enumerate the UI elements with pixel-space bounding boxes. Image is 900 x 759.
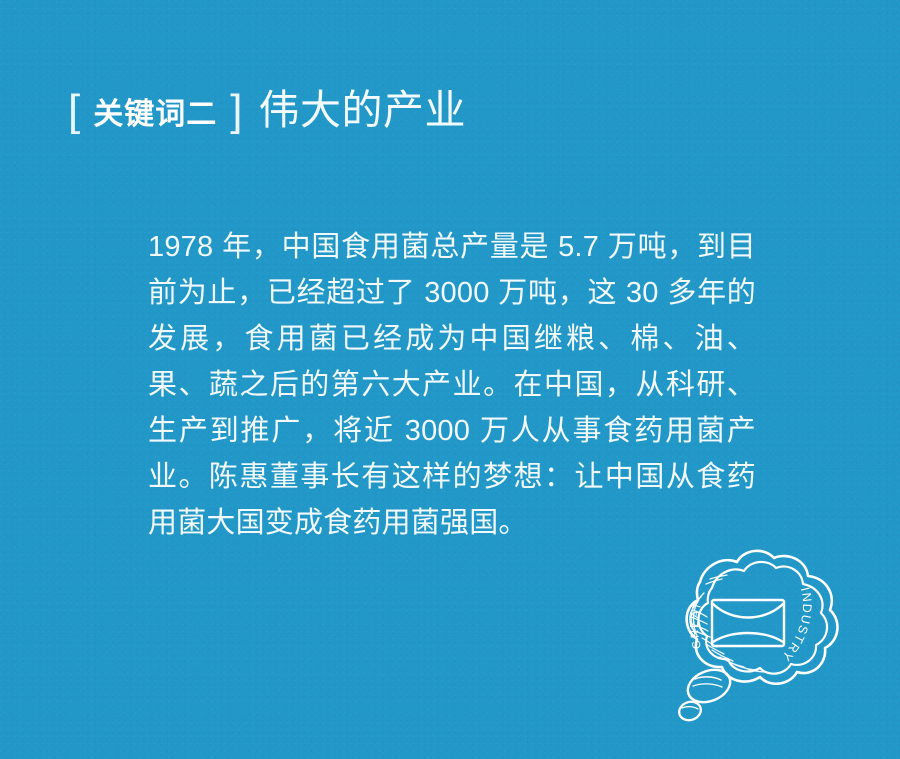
keyword-label: 关键词二 [93,100,217,130]
envelope-icon [712,600,784,646]
heading-title-text: 伟大的产业 [258,90,466,131]
bubble-outer-outline [687,551,838,684]
bubble-label-great: GREAT [689,600,705,651]
bracket-open: [ [68,89,80,133]
slide-canvas: [ 关键词二 ] 伟大的产业 1978 年，中国食用菌总产量是 5.7 万吨，到… [0,0,900,759]
thought-bubble-illustration: GREAT INDUSTRY [640,538,855,733]
page-title: [ 关键词二 ] 伟大的产业 [68,88,466,132]
bracket-close: ] [230,89,242,133]
body-paragraph: 1978 年，中国食用菌总产量是 5.7 万吨，到目前为止，已经超过了 3000… [148,224,756,546]
